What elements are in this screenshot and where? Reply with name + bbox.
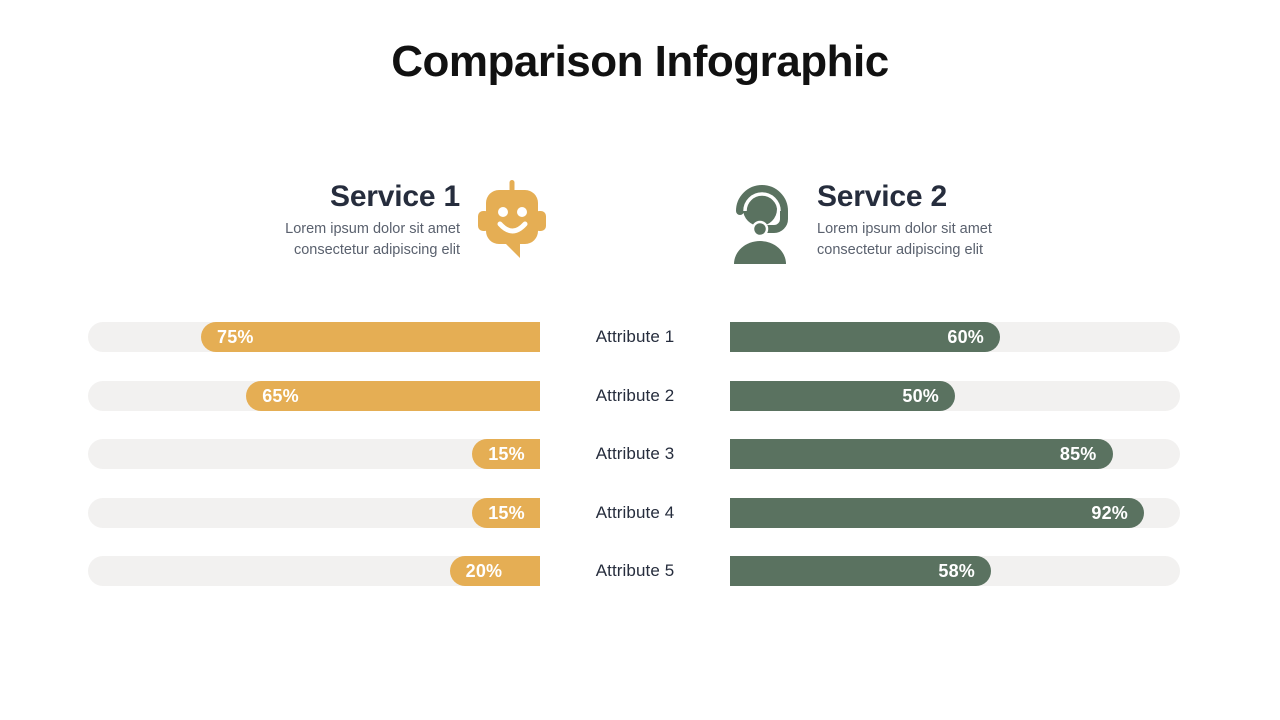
bar-fill-right[interactable]: 60%	[730, 322, 1000, 352]
attribute-label: Attribute 1	[540, 322, 730, 352]
bar-value-right: 50%	[902, 387, 939, 405]
bar-fill-left[interactable]: 15%	[472, 439, 540, 469]
attribute-label: Attribute 2	[540, 381, 730, 411]
page-title: Comparison Infographic	[0, 38, 1280, 86]
service-right-name: Service 2	[817, 180, 947, 215]
service-left-description: Lorem ipsum dolor sit amet consectetur a…	[245, 219, 460, 262]
bar-value-left: 75%	[217, 328, 254, 346]
bar-value-right: 58%	[938, 562, 975, 580]
bar-fill-right[interactable]: 92%	[730, 498, 1144, 528]
headset-agent-icon	[725, 178, 801, 264]
bar-track-right: 58%	[730, 556, 1180, 586]
bar-track-right: 60%	[730, 322, 1180, 352]
bar-value-left: 20%	[466, 562, 503, 580]
bar-value-left: 15%	[488, 445, 525, 463]
bar-track-left: 15%	[88, 498, 540, 528]
service-header-left: Service 1 Lorem ipsum dolor sit amet con…	[150, 178, 550, 264]
comparison-row: 15% Attribute 4 92%	[0, 498, 1280, 557]
comparison-row: 15% Attribute 3 85%	[0, 439, 1280, 498]
bar-value-right: 60%	[947, 328, 984, 346]
bar-fill-left[interactable]: 15%	[472, 498, 540, 528]
bar-fill-right[interactable]: 85%	[730, 439, 1113, 469]
service-right-text: Service 2 Lorem ipsum dolor sit amet con…	[801, 180, 1032, 261]
bar-fill-left[interactable]: 20%	[450, 556, 540, 586]
bar-fill-left[interactable]: 75%	[201, 322, 540, 352]
bar-track-left: 75%	[88, 322, 540, 352]
robot-chat-icon	[474, 178, 550, 264]
bar-fill-right[interactable]: 58%	[730, 556, 991, 586]
bar-track-left: 65%	[88, 381, 540, 411]
comparison-row: 20% Attribute 5 58%	[0, 556, 1280, 615]
attribute-label: Attribute 3	[540, 439, 730, 469]
attribute-label: Attribute 4	[540, 498, 730, 528]
bar-track-left: 15%	[88, 439, 540, 469]
bar-fill-left[interactable]: 65%	[246, 381, 540, 411]
bar-value-right: 85%	[1060, 445, 1097, 463]
bar-track-left: 20%	[88, 556, 540, 586]
service-left-name: Service 1	[330, 180, 460, 215]
bar-value-left: 65%	[262, 387, 299, 405]
bar-track-right: 50%	[730, 381, 1180, 411]
attribute-label: Attribute 5	[540, 556, 730, 586]
bar-track-right: 92%	[730, 498, 1180, 528]
service-header-right: Service 2 Lorem ipsum dolor sit amet con…	[725, 178, 1125, 264]
bar-value-right: 92%	[1091, 504, 1128, 522]
comparison-row: 75% Attribute 1 60%	[0, 322, 1280, 381]
bar-fill-right[interactable]: 50%	[730, 381, 955, 411]
infographic-slide: Comparison Infographic Service 1 Lorem i…	[0, 0, 1280, 720]
comparison-row: 65% Attribute 2 50%	[0, 381, 1280, 440]
bar-track-right: 85%	[730, 439, 1180, 469]
bar-value-left: 15%	[488, 504, 525, 522]
service-right-description: Lorem ipsum dolor sit amet consectetur a…	[817, 219, 1032, 262]
comparison-rows: 75% Attribute 1 60% 65% Attribute 2 50%	[0, 322, 1280, 615]
service-left-text: Service 1 Lorem ipsum dolor sit amet con…	[245, 180, 474, 261]
